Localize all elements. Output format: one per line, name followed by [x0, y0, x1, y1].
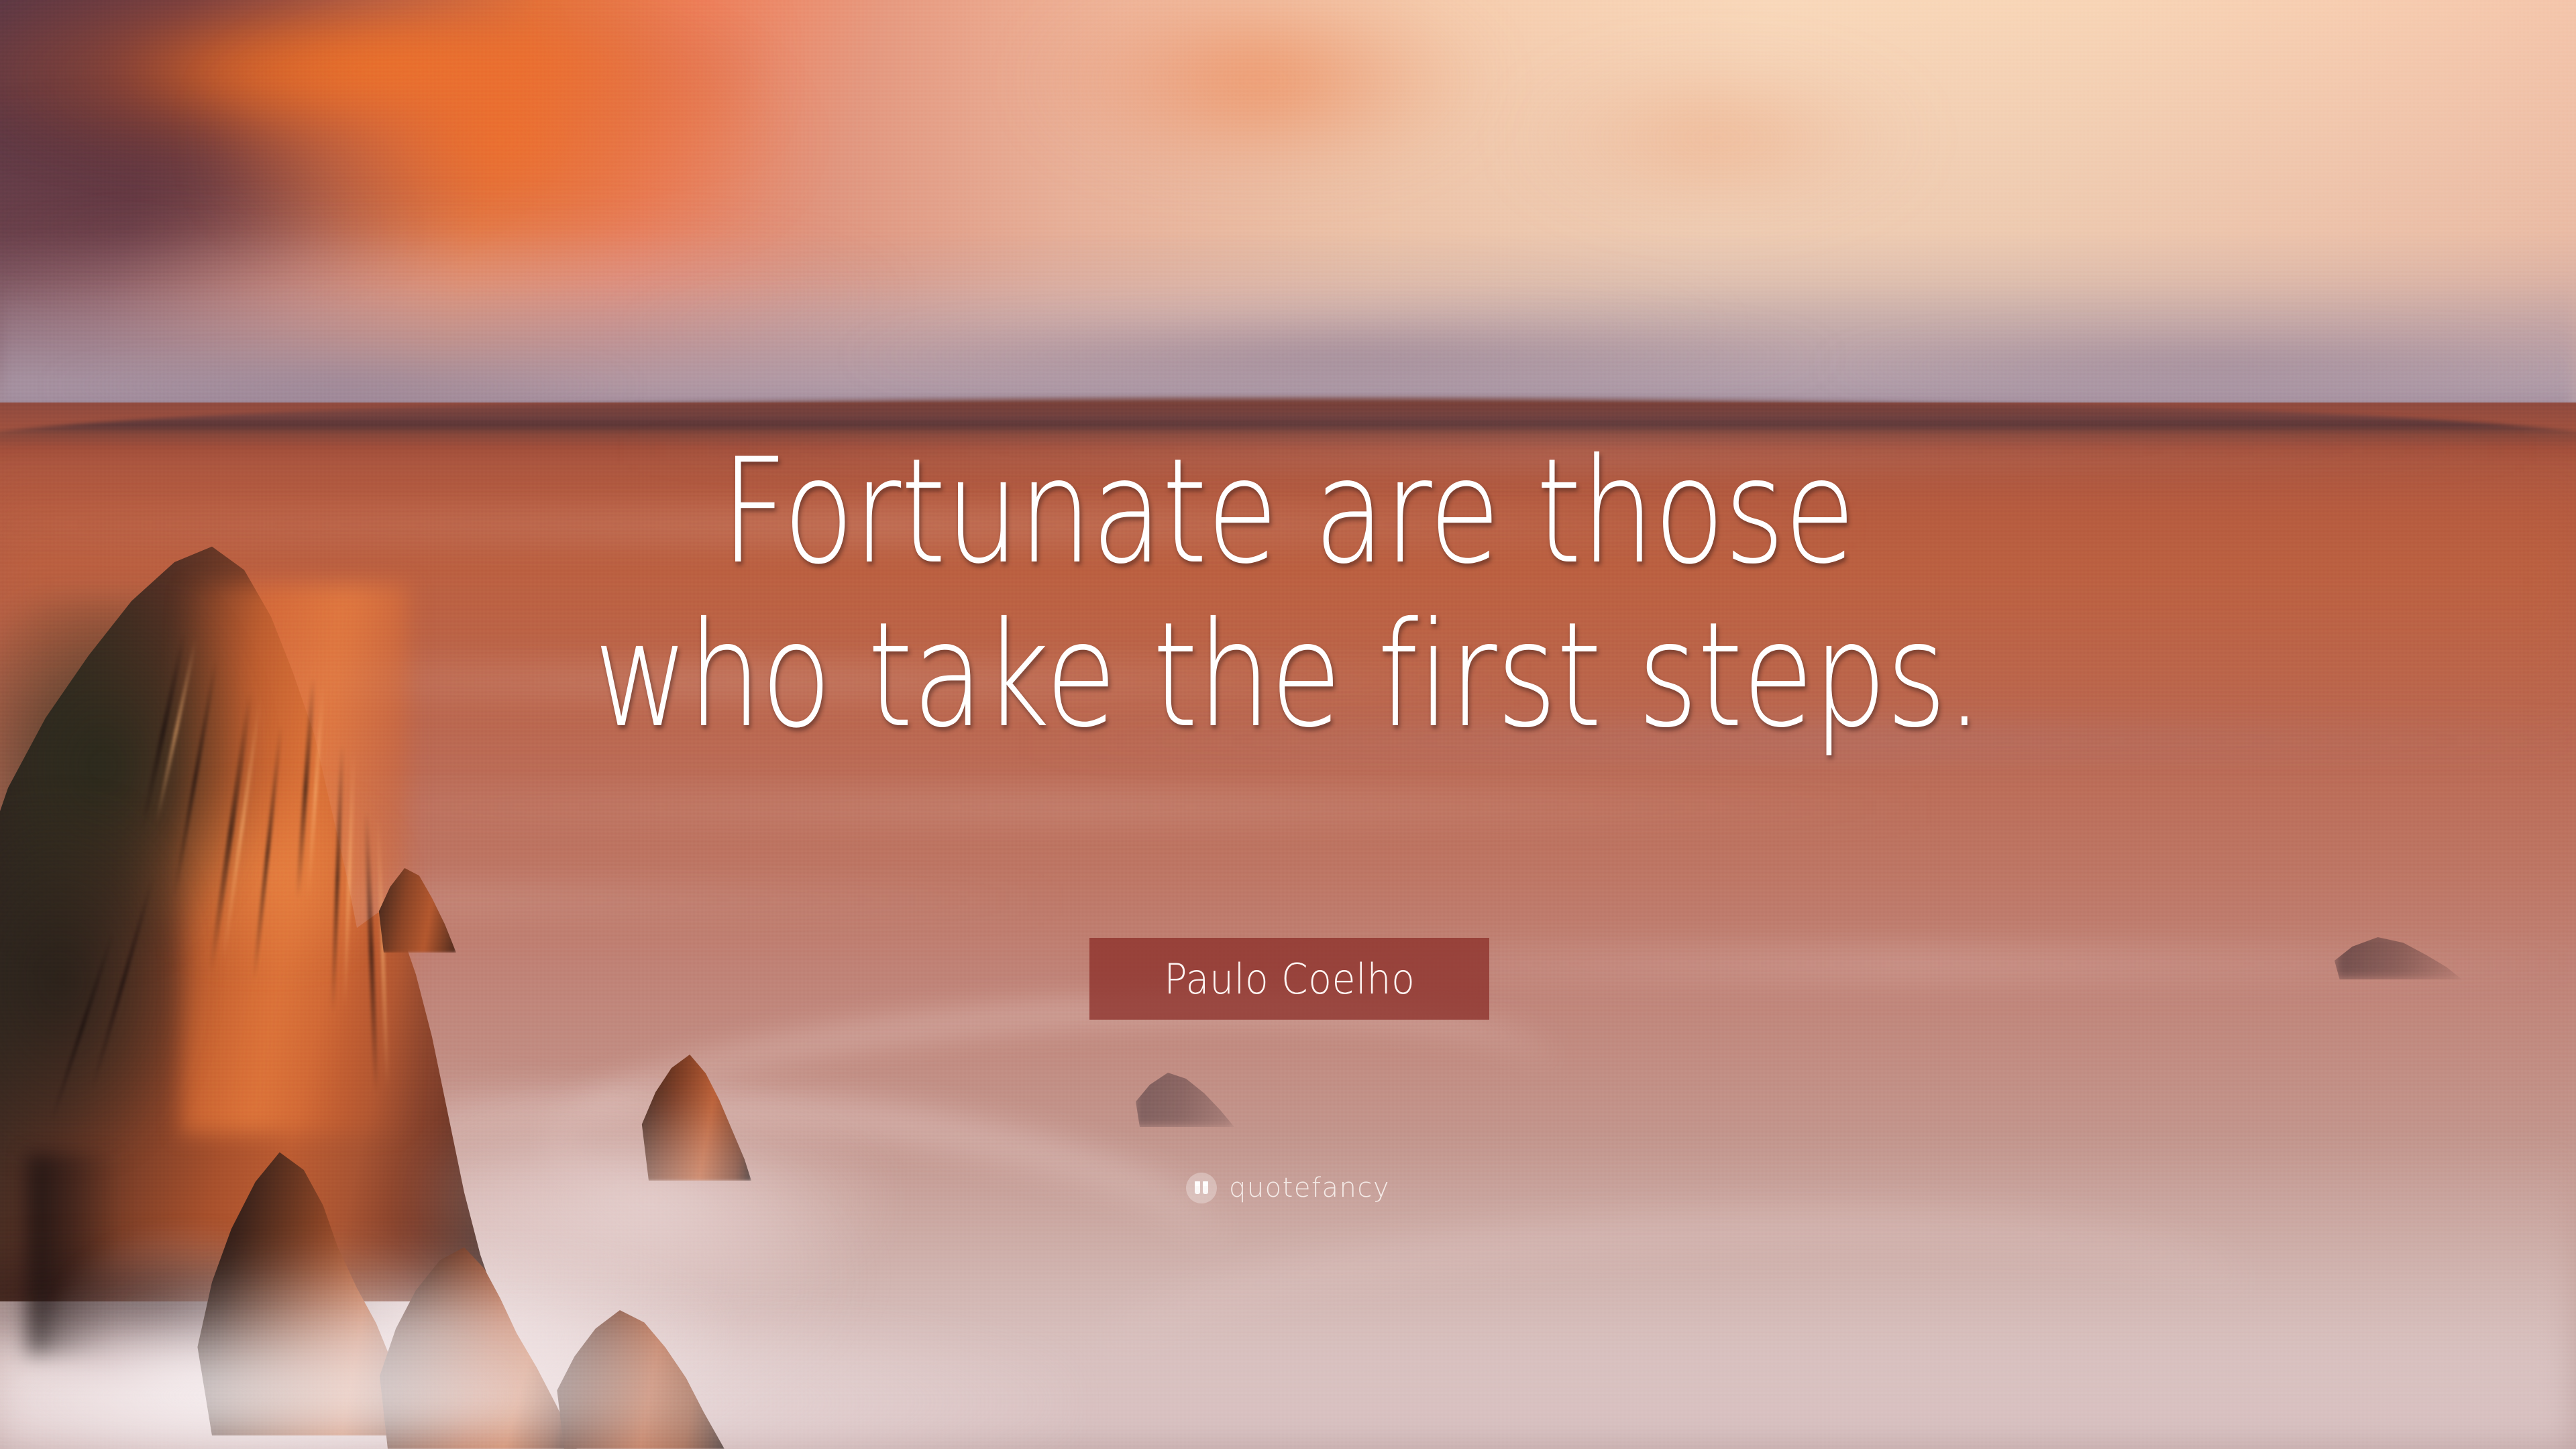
wallpaper-canvas: Fortunate are those who take the first s…	[0, 0, 2576, 1449]
quote-overlay: Fortunate are those who take the first s…	[0, 0, 2576, 1449]
quote-line-2: who take the first steps.	[419, 603, 2157, 748]
author-name: Paulo Coelho	[1164, 955, 1415, 1004]
quote-text-block: Fortunate are those who take the first s…	[0, 439, 2576, 748]
author-badge: Paulo Coelho	[1089, 938, 1489, 1020]
quote-line-1: Fortunate are those	[419, 439, 2157, 584]
quotefancy-watermark[interactable]: quotefancy	[0, 1173, 2576, 1203]
quote-mark-icon	[1186, 1173, 1217, 1203]
watermark-brand-label: quotefancy	[1229, 1173, 1390, 1203]
